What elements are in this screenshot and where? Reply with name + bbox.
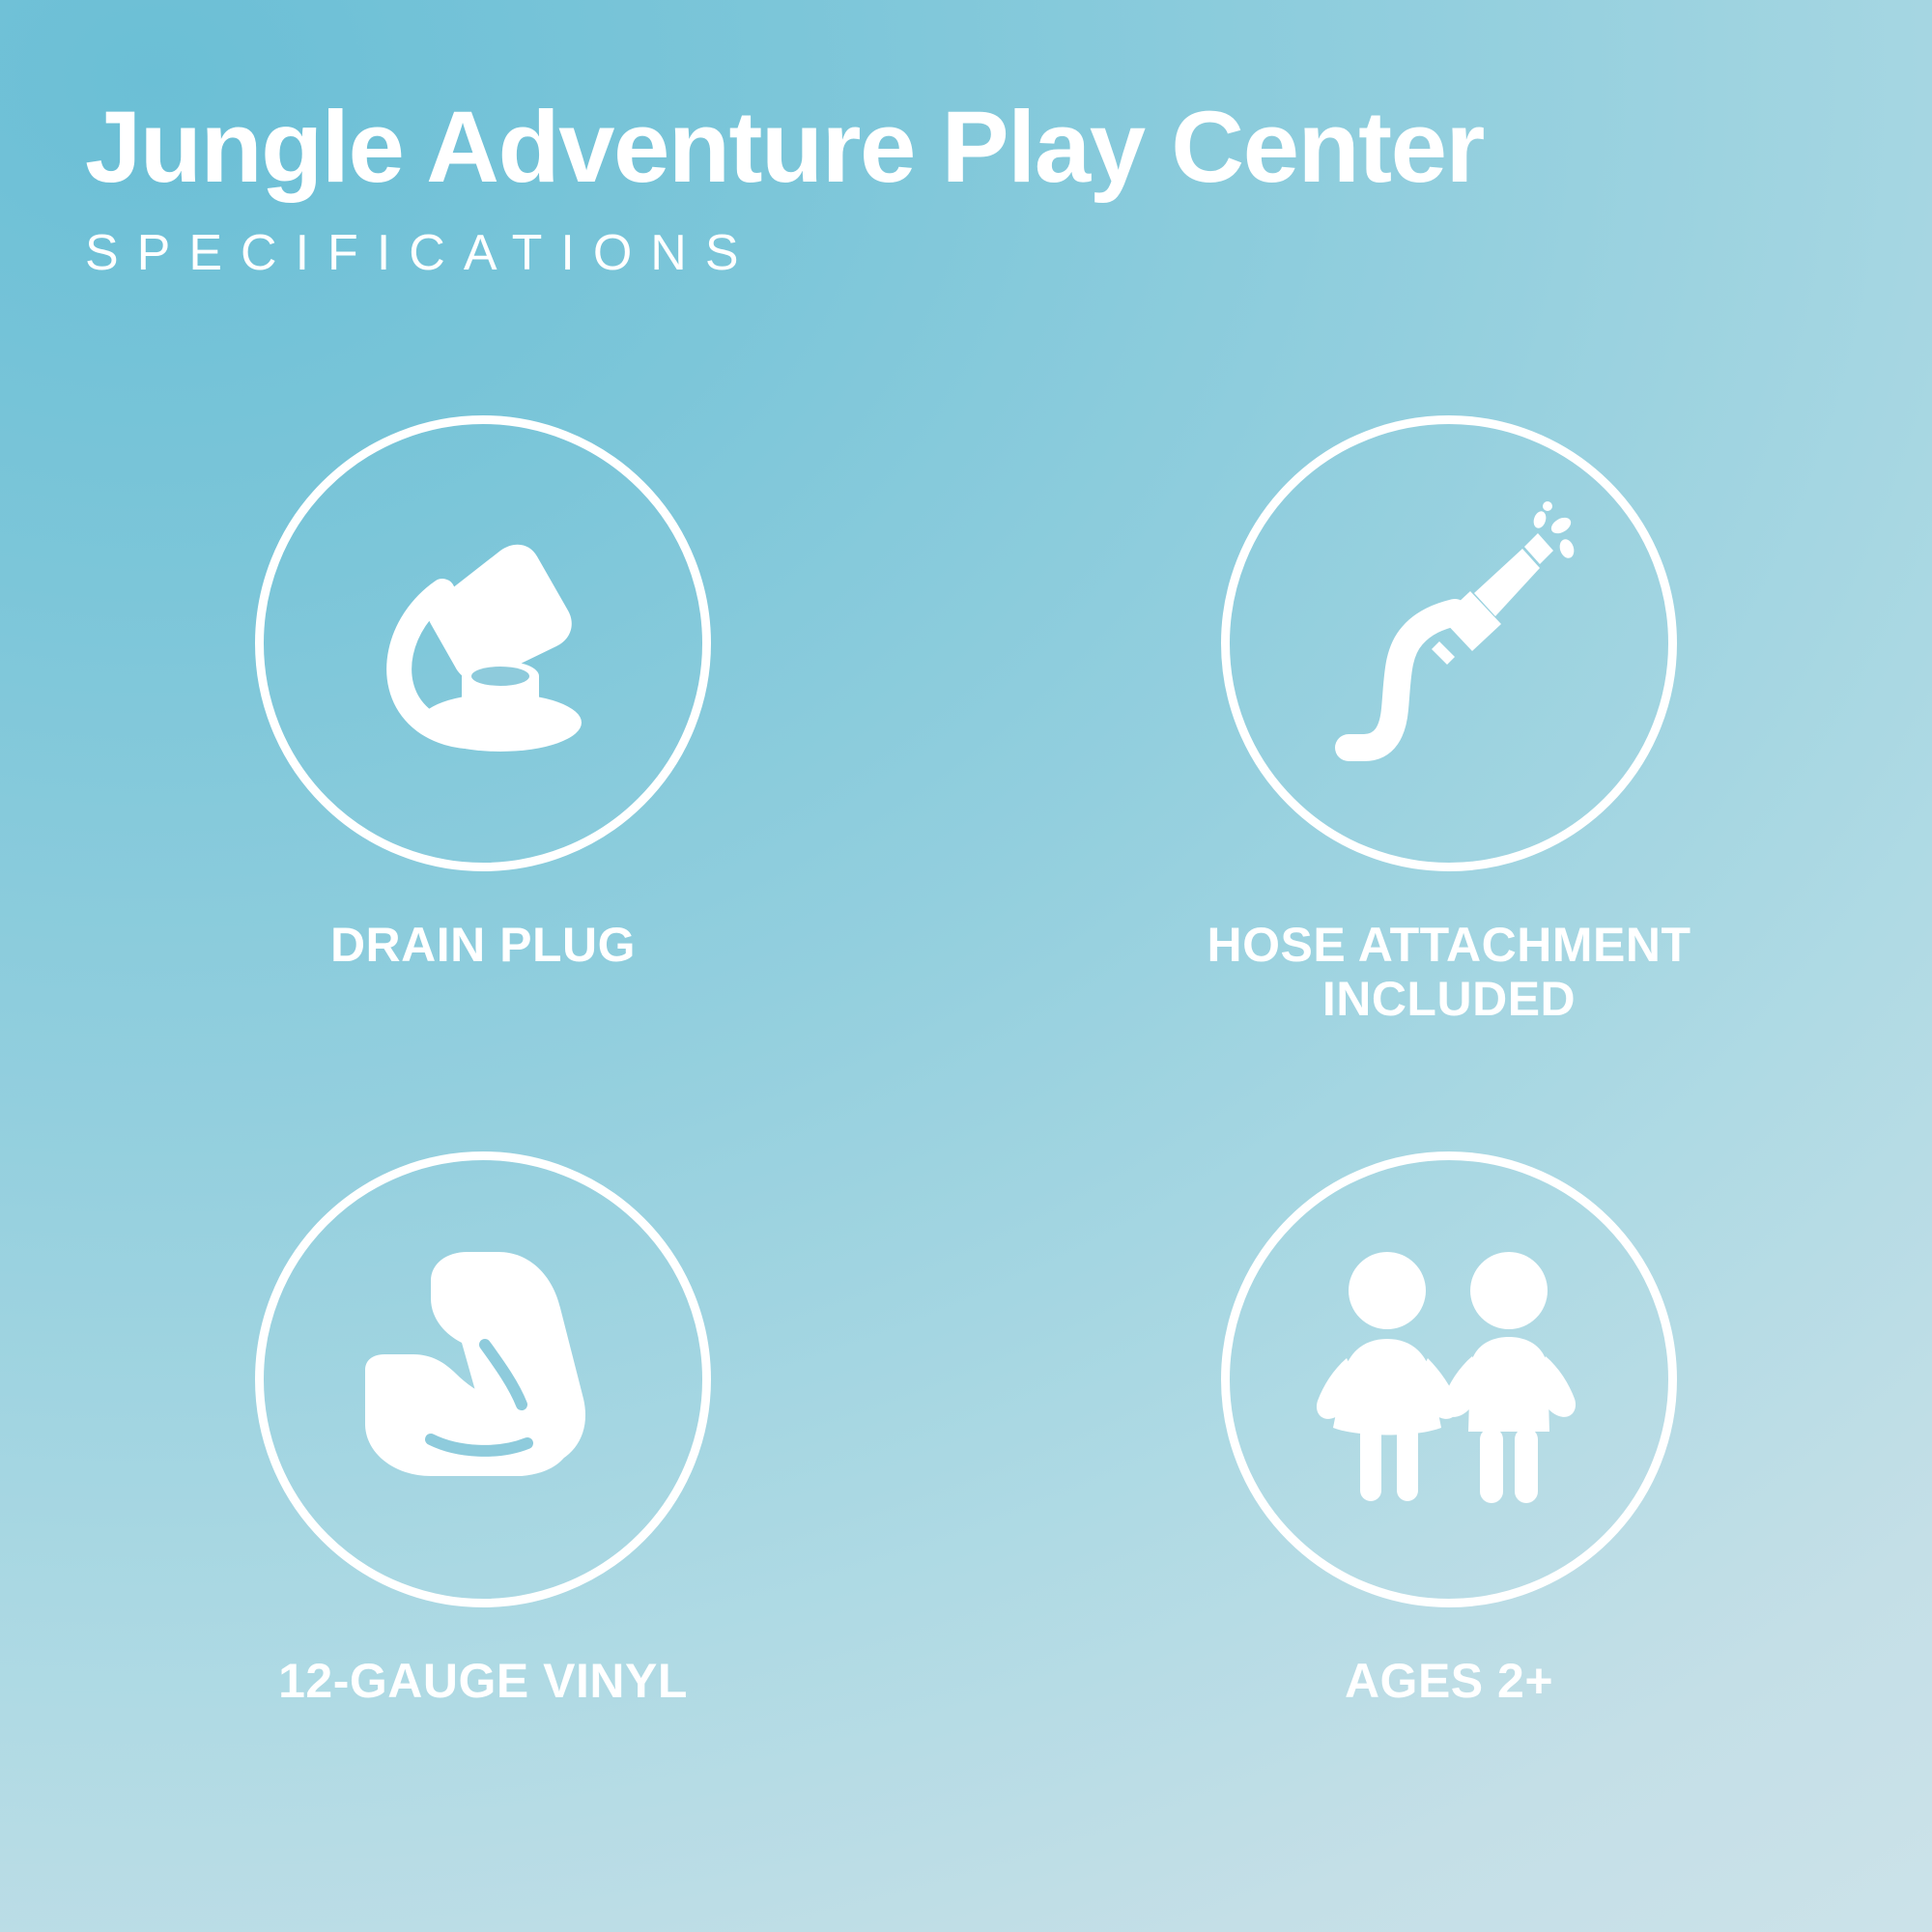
feature-label: HOSE ATTACHMENT INCLUDED (1207, 918, 1691, 1026)
flexed-bicep-icon-frame (255, 1151, 711, 1607)
feature-label: AGES 2+ (1345, 1654, 1553, 1708)
drain-plug-icon-frame (255, 415, 711, 871)
feature-grid: DRAIN PLUG (0, 415, 1932, 1708)
feature-hose-attachment: HOSE ATTACHMENT INCLUDED (966, 415, 1932, 1026)
feature-label: 12-GAUGE VINYL (278, 1654, 688, 1708)
page-subtitle: SPECIFICATIONS (85, 223, 1843, 283)
feature-label: DRAIN PLUG (330, 918, 636, 972)
flexed-bicep-icon (338, 1235, 628, 1524)
specifications-infographic: Jungle Adventure Play Center SPECIFICATI… (0, 0, 1932, 1932)
header: Jungle Adventure Play Center SPECIFICATI… (85, 93, 1843, 284)
hose-nozzle-icon (1304, 498, 1594, 788)
page-title: Jungle Adventure Play Center (85, 93, 1843, 202)
feature-vinyl-gauge: 12-GAUGE VINYL (0, 1151, 966, 1708)
drain-plug-icon (338, 498, 628, 788)
feature-age-range: AGES 2+ (966, 1151, 1932, 1708)
two-children-icon (1304, 1235, 1594, 1524)
hose-nozzle-icon-frame (1221, 415, 1677, 871)
two-children-icon-frame (1221, 1151, 1677, 1607)
feature-drain-plug: DRAIN PLUG (0, 415, 966, 1026)
